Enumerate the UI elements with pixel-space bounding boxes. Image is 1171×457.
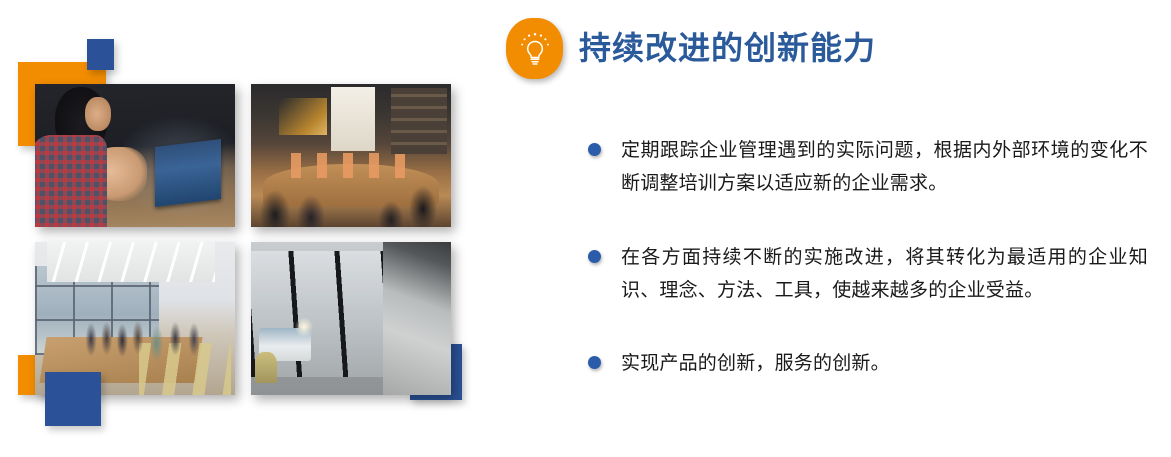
photo-top-left [35, 84, 235, 227]
photo-art-shape [87, 147, 147, 201]
bullet-text: 在各方面持续不断的实施改进，将其转化为最适用的企业知识、理念、方法、工具，使越来… [621, 241, 1148, 308]
bullet-dot-icon [588, 356, 601, 369]
photo-top-right [251, 84, 451, 227]
photo-grid [35, 84, 451, 395]
bullet-dot-icon [588, 143, 601, 156]
content-column: 持续改进的创新能力 定期跟踪企业管理遇到的实际问题，根据内外部环境的变化不断调整… [500, 0, 1171, 457]
bullet-text: 定期跟踪企业管理遇到的实际问题，根据内外部环境的变化不断调整培训方案以适应新的企… [621, 134, 1148, 201]
list-item: 实现产品的创新，服务的创新。 [588, 347, 1148, 380]
photo-art-shape [295, 317, 313, 337]
bullet-text: 实现产品的创新，服务的创新。 [621, 347, 890, 380]
photo-bottom-right [251, 242, 451, 395]
photo-collage [0, 0, 500, 457]
photo-top-left-art [35, 84, 235, 227]
photo-art-shape [423, 263, 433, 277]
list-item: 在各方面持续不断的实施改进，将其转化为最适用的企业知识、理念、方法、工具，使越来… [588, 241, 1148, 308]
slide-root: 持续改进的创新能力 定期跟踪企业管理遇到的实际问题，根据内外部环境的变化不断调整… [0, 0, 1171, 457]
photo-art-shape [407, 257, 421, 275]
list-item: 定期跟踪企业管理遇到的实际问题，根据内外部环境的变化不断调整培训方案以适应新的企… [588, 134, 1148, 201]
blue-square-bottom-left-decoration [45, 372, 101, 426]
photo-art-shape [85, 97, 111, 131]
blue-square-top-left-decoration [87, 39, 114, 70]
photo-art-shape [279, 98, 327, 135]
photo-art-shape [255, 352, 277, 383]
lightbulb-icon [506, 18, 563, 79]
headline-row: 持续改进的创新能力 [506, 18, 876, 79]
photo-art-shape [63, 315, 219, 364]
photo-bottom-right-art [251, 242, 451, 395]
page-title: 持续改进的创新能力 [579, 31, 876, 66]
bullet-dot-icon [588, 250, 601, 263]
photo-art-shape [251, 167, 451, 227]
bullet-list: 定期跟踪企业管理遇到的实际问题，根据内外部环境的变化不断调整培训方案以适应新的企… [588, 134, 1148, 380]
photo-top-right-art [251, 84, 451, 227]
